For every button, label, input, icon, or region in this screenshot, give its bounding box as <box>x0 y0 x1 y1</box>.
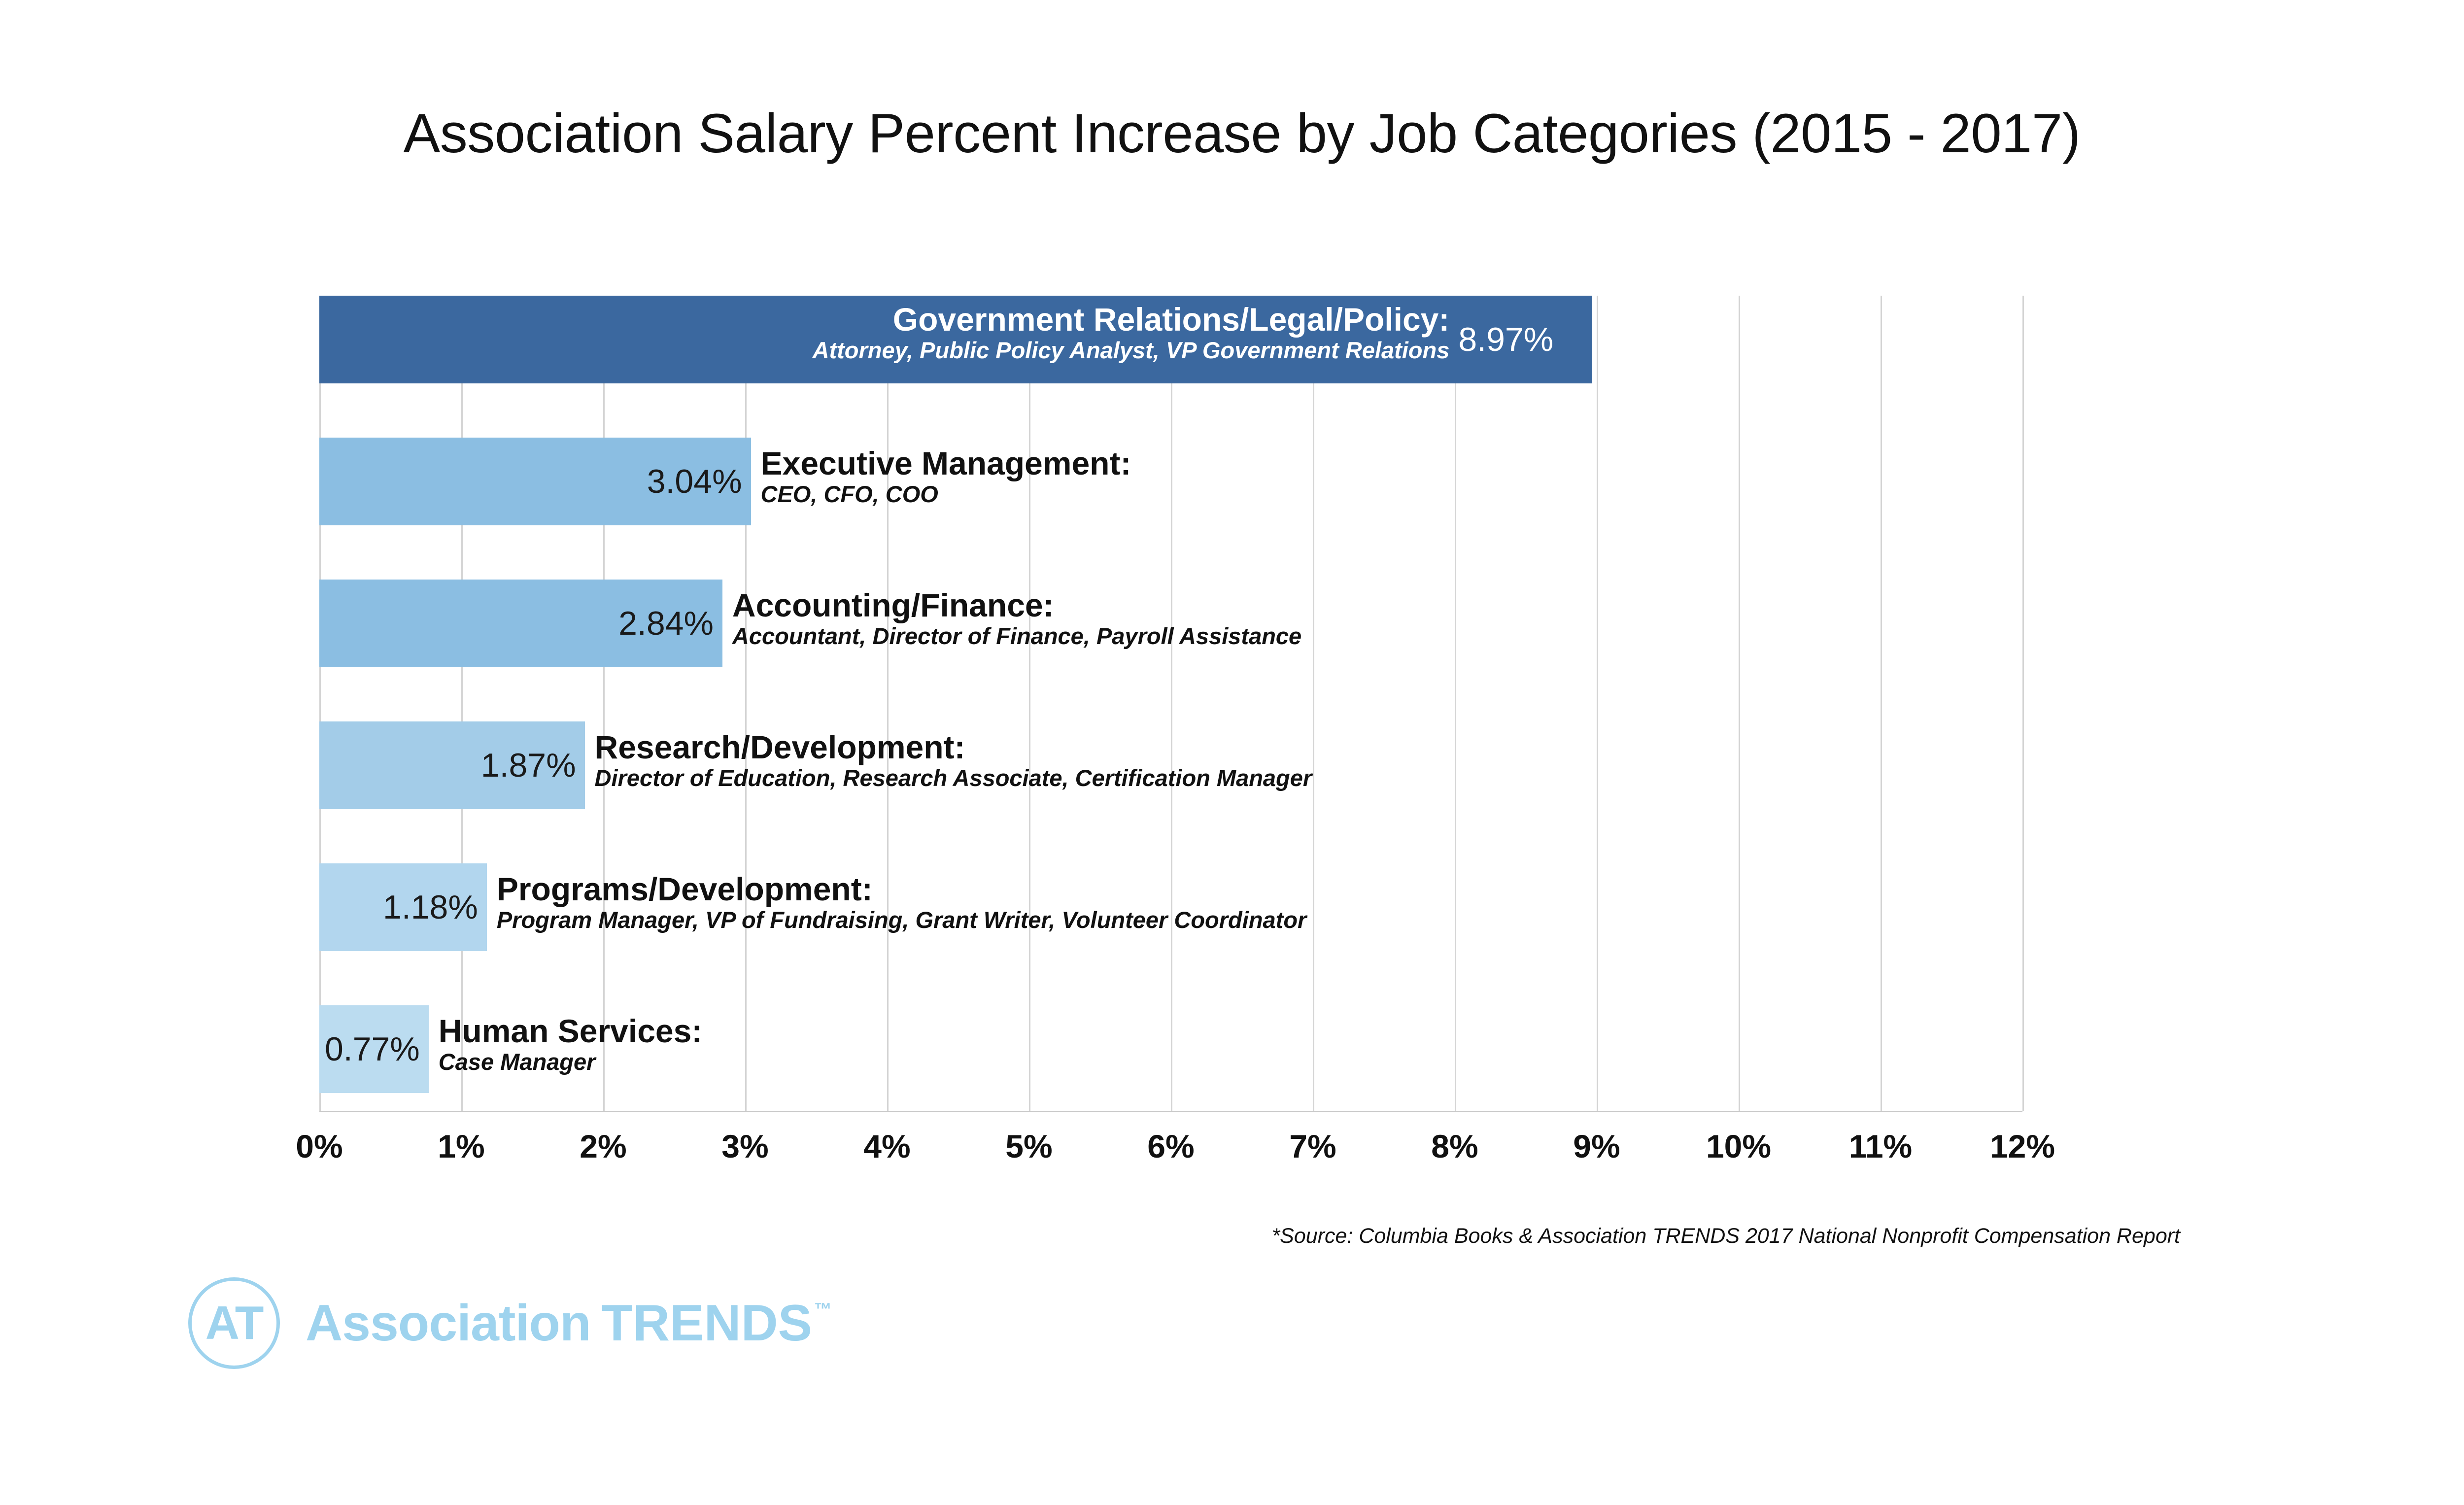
logo-trademark-icon: ™ <box>814 1300 832 1318</box>
x-tick-label: 4% <box>863 1128 910 1165</box>
category-title: Programs/Development: <box>497 872 1307 906</box>
bar-row: 1.87%Research/Development:Director of Ed… <box>319 721 2022 809</box>
logo-mark-circle-icon: AT <box>188 1277 280 1369</box>
bar-row: 2.84%Accounting/Finance:Accountant, Dire… <box>319 580 2022 667</box>
gridline-7 <box>1313 296 1314 1111</box>
bar-row: 0.77%Human Services:Case Manager <box>319 1005 2022 1093</box>
gridline-10 <box>1739 296 1740 1111</box>
x-tick-label: 6% <box>1147 1128 1194 1165</box>
category-subtitle: Director of Education, Research Associat… <box>595 766 1312 790</box>
gridline-4 <box>887 296 889 1111</box>
bar-row: 8.97%Government Relations/Legal/Policy:A… <box>319 296 2022 383</box>
category-title: Accounting/Finance: <box>732 588 1301 622</box>
bar-value-label: 0.77% <box>325 1032 420 1066</box>
category-title: Research/Development: <box>595 730 1312 764</box>
category-label-6: Human Services:Case Manager <box>439 1014 703 1074</box>
x-tick-label: 0% <box>296 1128 342 1165</box>
category-label-4: Research/Development:Director of Educati… <box>595 730 1312 790</box>
category-title: Human Services: <box>439 1014 703 1048</box>
logo-mark-initials: AT <box>205 1300 263 1347</box>
bar-value-label: 1.18% <box>383 890 478 924</box>
category-label-3: Accounting/Finance:Accountant, Director … <box>732 588 1301 649</box>
bar-value-label: 3.04% <box>647 465 742 498</box>
category-title: Executive Management: <box>761 446 1131 480</box>
x-axis-tick-labels: 0%1%2%3%4%5%6%7%8%9%10%11%12% <box>319 1128 2022 1172</box>
gridline-11 <box>1881 296 1882 1111</box>
logo-word-trends: TRENDS <box>601 1298 812 1349</box>
gridline-9 <box>1597 296 1598 1111</box>
gridline-8 <box>1455 296 1456 1111</box>
bar-row: 1.18%Programs/Development:Program Manage… <box>319 863 2022 951</box>
category-subtitle: Accountant, Director of Finance, Payroll… <box>732 624 1301 649</box>
category-label-2: Executive Management:CEO, CFO, COO <box>761 446 1131 507</box>
category-subtitle: Attorney, Public Policy Analyst, VP Gove… <box>813 339 1450 363</box>
x-tick-label: 11% <box>1849 1128 1912 1165</box>
gridline-6 <box>1171 296 1172 1111</box>
bar-value-label: 8.97% <box>1458 323 1553 356</box>
gridline-12 <box>2022 296 2024 1111</box>
x-tick-label: 2% <box>580 1128 626 1165</box>
gridline-3 <box>745 296 747 1111</box>
category-title: Government Relations/Legal/Policy: <box>813 303 1450 337</box>
x-tick-label: 12% <box>1990 1128 2055 1165</box>
chart-plot-area: 8.97%Government Relations/Legal/Policy:A… <box>319 296 2022 1112</box>
logo-wordmark: Association TRENDS ™ <box>306 1298 832 1349</box>
source-note: *Source: Columbia Books & Association TR… <box>1271 1224 2180 1248</box>
category-subtitle: Program Manager, VP of Fundraising, Gran… <box>497 908 1307 932</box>
bar-value-label: 1.87% <box>481 749 576 782</box>
x-tick-label: 3% <box>721 1128 768 1165</box>
gridline-0 <box>319 296 321 1111</box>
gridline-1 <box>461 296 463 1111</box>
association-trends-logo: AT Association TRENDS ™ <box>188 1277 832 1369</box>
x-tick-label: 5% <box>1005 1128 1052 1165</box>
x-tick-label: 10% <box>1706 1128 1771 1165</box>
x-tick-label: 9% <box>1573 1128 1620 1165</box>
logo-word-association: Association <box>306 1298 590 1349</box>
gridline-5 <box>1029 296 1030 1111</box>
bar-value-label: 2.84% <box>618 607 714 640</box>
category-subtitle: Case Manager <box>439 1050 703 1074</box>
category-label-5: Programs/Development:Program Manager, VP… <box>497 872 1307 932</box>
gridline-2 <box>603 296 605 1111</box>
category-subtitle: CEO, CFO, COO <box>761 482 1131 507</box>
x-tick-label: 1% <box>438 1128 484 1165</box>
category-label-1: Government Relations/Legal/Policy:Attorn… <box>813 303 1450 363</box>
page-title: Association Salary Percent Increase by J… <box>0 102 2464 165</box>
x-tick-label: 7% <box>1289 1128 1336 1165</box>
bar-row: 3.04%Executive Management:CEO, CFO, COO <box>319 438 2022 525</box>
x-tick-label: 8% <box>1431 1128 1478 1165</box>
